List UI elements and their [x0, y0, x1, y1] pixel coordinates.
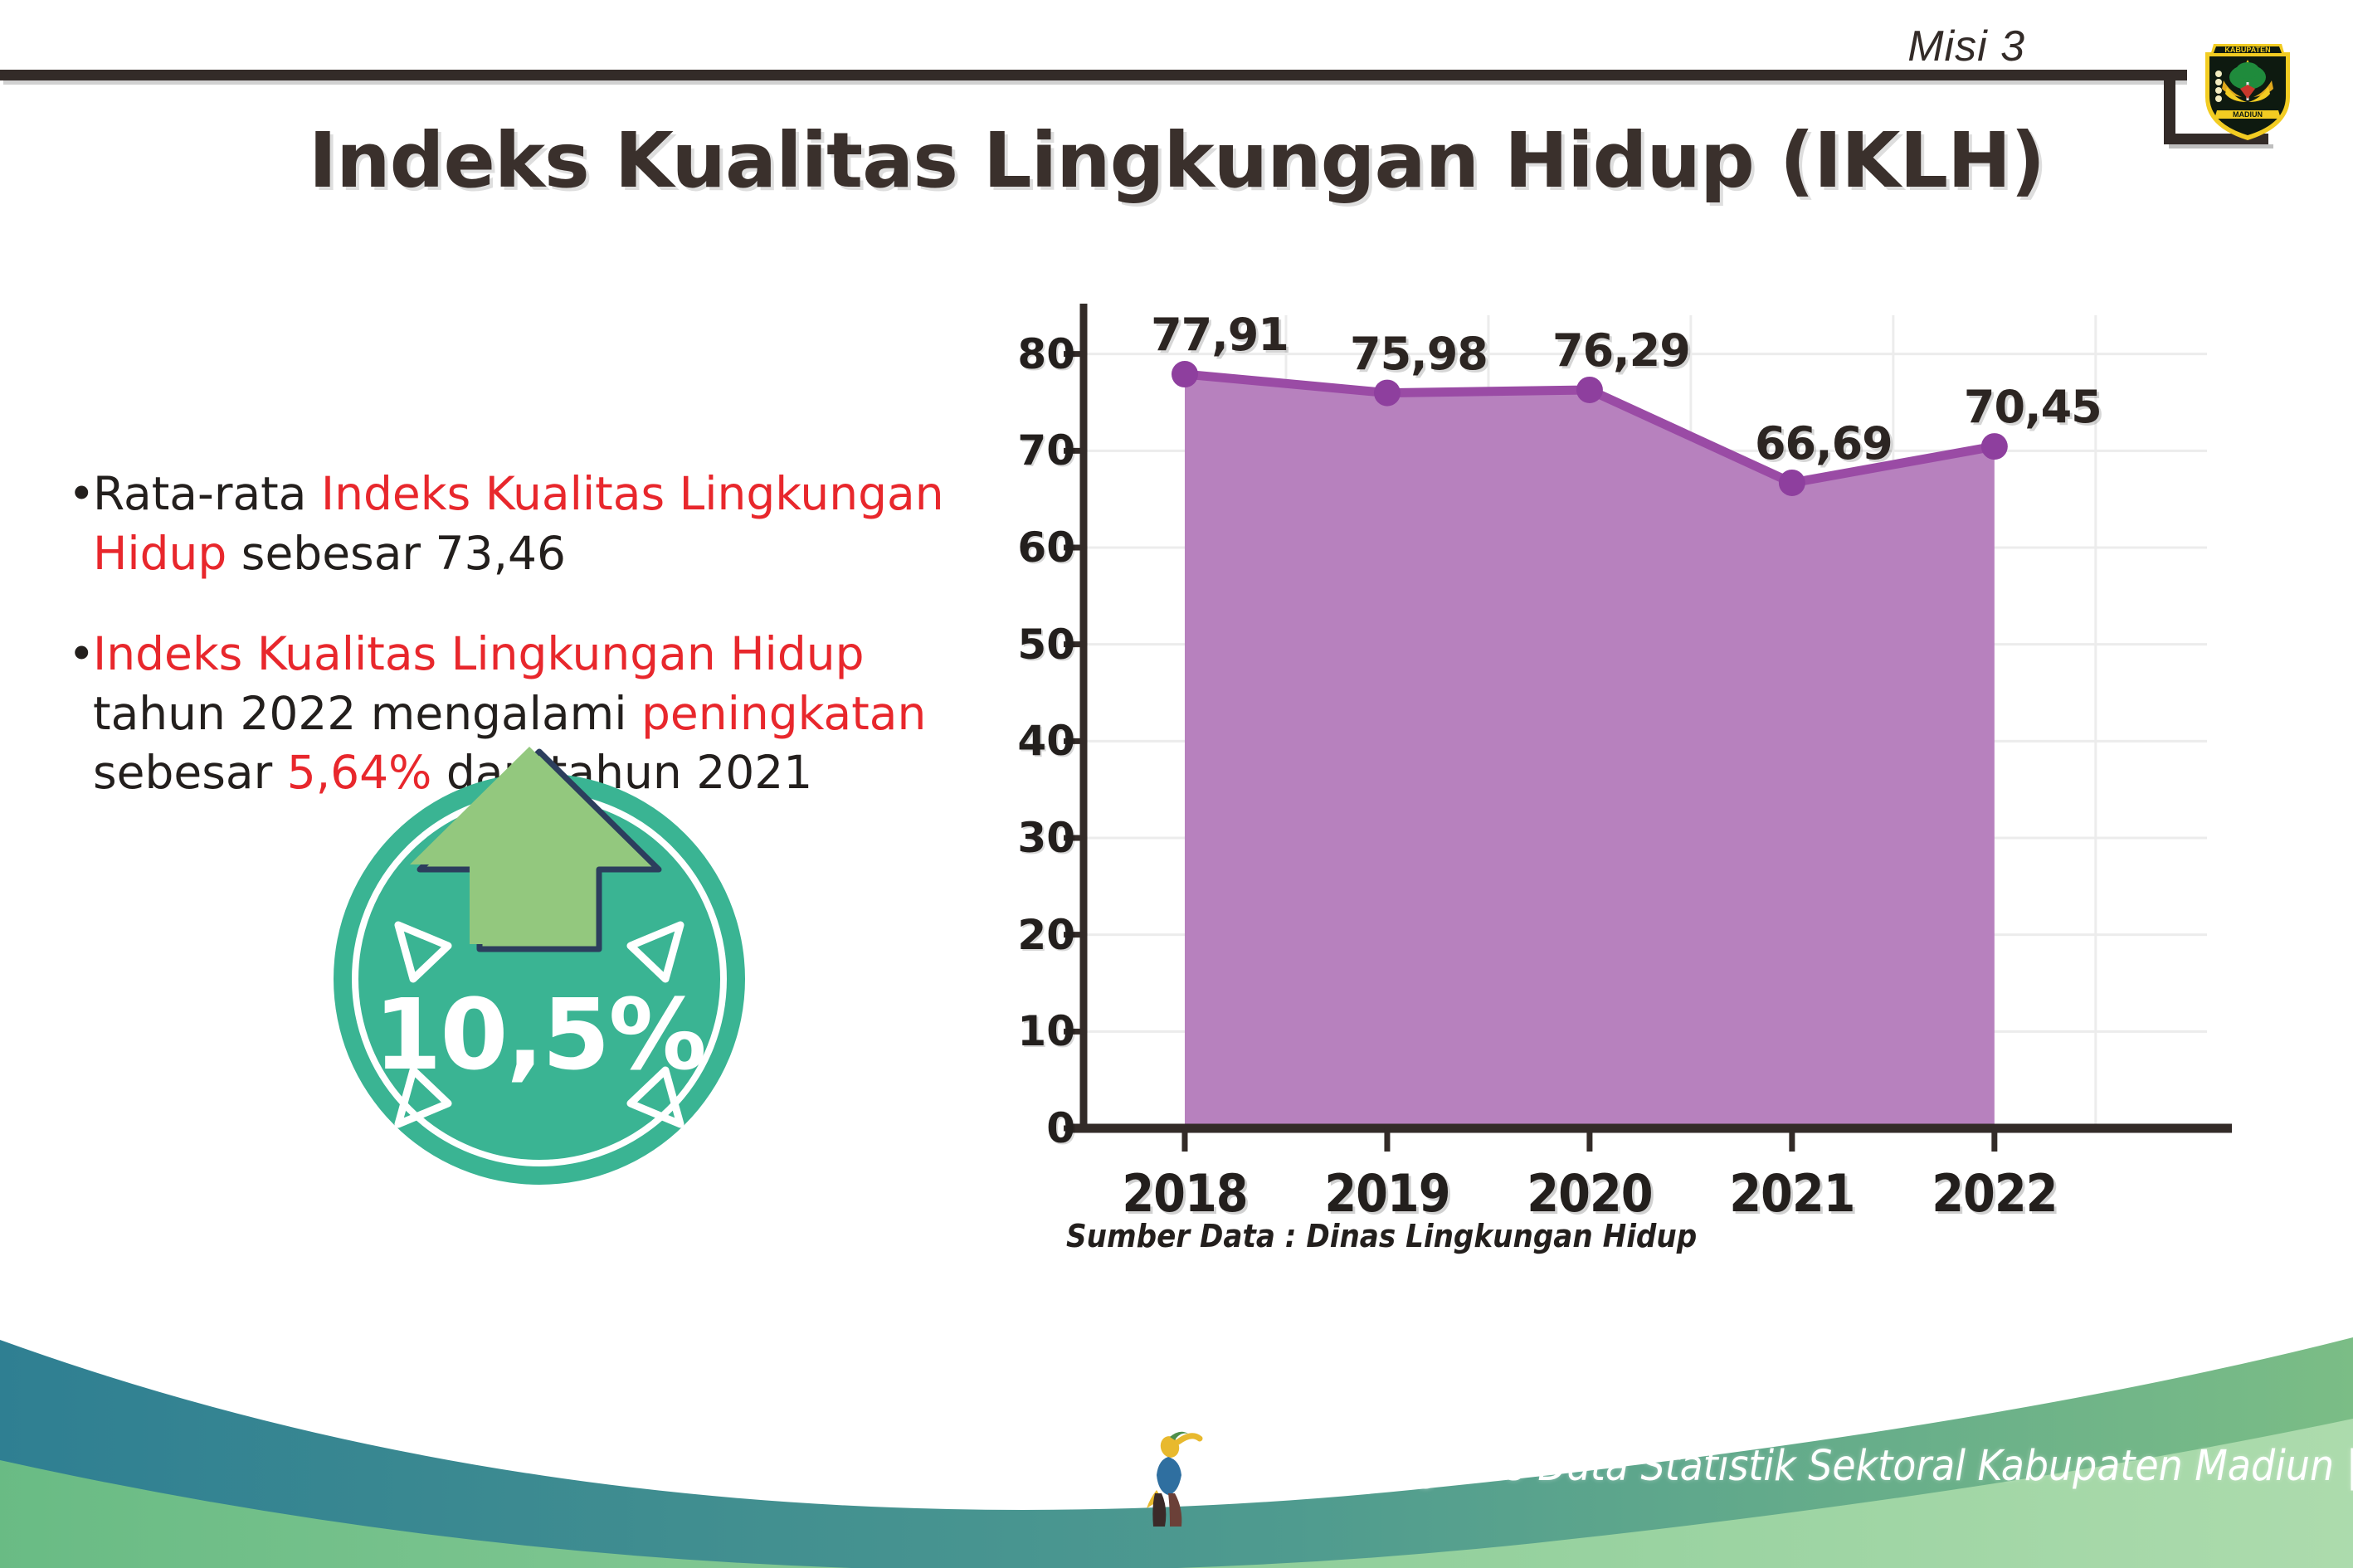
chart-source-note: Sumber Data : Dinas Lingkungan Hidup: [1066, 1218, 1697, 1254]
bullet-1-segment-0: Indeks Kualitas Lingkungan Hidup: [93, 627, 865, 680]
statistics-person-icon: [1145, 1425, 1220, 1533]
bullet-0-segment-2: sebesar 73,46: [227, 527, 566, 580]
header-rule-shadow: [3, 80, 2187, 85]
infographic-slide: Misi 3 KABUPATEN MADIUN Indeks Kualitas …: [0, 0, 2353, 1568]
data-value-label: 76,29: [1552, 324, 1690, 377]
data-point-marker: [1172, 361, 1198, 387]
area-fill: [1185, 374, 1995, 1128]
y-axis-label: 60: [1017, 523, 1075, 572]
data-point-marker: [1981, 433, 2008, 460]
bullet-1-segment-3: sebesar: [93, 746, 287, 799]
data-value-label: 75,98: [1350, 328, 1488, 380]
data-point-marker: [1374, 380, 1401, 407]
x-axis-label: 2018: [1122, 1163, 1247, 1224]
y-axis-label: 40: [1017, 717, 1075, 765]
bullet-0-segment-0: Rata-rata: [93, 467, 321, 520]
increase-badge: 10,5%: [315, 738, 763, 1203]
data-value-label: 66,69: [1755, 417, 1893, 470]
x-axis-label: 2019: [1324, 1163, 1449, 1224]
svg-text:KABUPATEN: KABUPATEN: [2224, 46, 2270, 54]
bullet-1-segment-2: peningkatan: [641, 687, 926, 740]
y-axis-label: 70: [1017, 426, 1075, 475]
page-title: Indeks Kualitas Lingkungan Hidup (IKLH): [0, 116, 2353, 205]
x-axis-label: 2021: [1729, 1163, 1854, 1224]
footer-caption: Media Infografis Data Statistik Sektoral…: [1220, 1442, 2353, 1491]
data-value-label: 77,91: [1151, 309, 1289, 361]
y-axis-labels: 01020304050607080: [979, 299, 1075, 1128]
data-value-label: 70,45: [1964, 381, 2102, 433]
misi-label: Misi 3: [1907, 22, 2025, 71]
data-point-marker: [1576, 377, 1603, 403]
y-axis-label: 80: [1017, 330, 1075, 378]
header-rule: [0, 70, 2187, 80]
x-axis-label: 2020: [1527, 1163, 1652, 1224]
y-axis-label: 10: [1017, 1007, 1075, 1055]
y-axis-label: 50: [1017, 621, 1075, 669]
data-point-marker: [1779, 470, 1805, 496]
list-item: Rata-rata Indeks Kualitas Lingkungan Hid…: [68, 465, 948, 583]
badge-percent-value: 10,5%: [315, 977, 763, 1092]
bullet-1-segment-1: tahun 2022 mengalami: [93, 687, 641, 740]
iklh-area-chart: 01020304050607080 20182019202020212022 7…: [979, 299, 2240, 1178]
x-axis-label: 2022: [1932, 1163, 2057, 1224]
y-axis-label: 20: [1017, 911, 1075, 959]
y-axis-label: 0: [1046, 1104, 1075, 1152]
y-axis-label: 30: [1017, 814, 1075, 862]
increase-badge-graphic: [315, 738, 763, 1203]
